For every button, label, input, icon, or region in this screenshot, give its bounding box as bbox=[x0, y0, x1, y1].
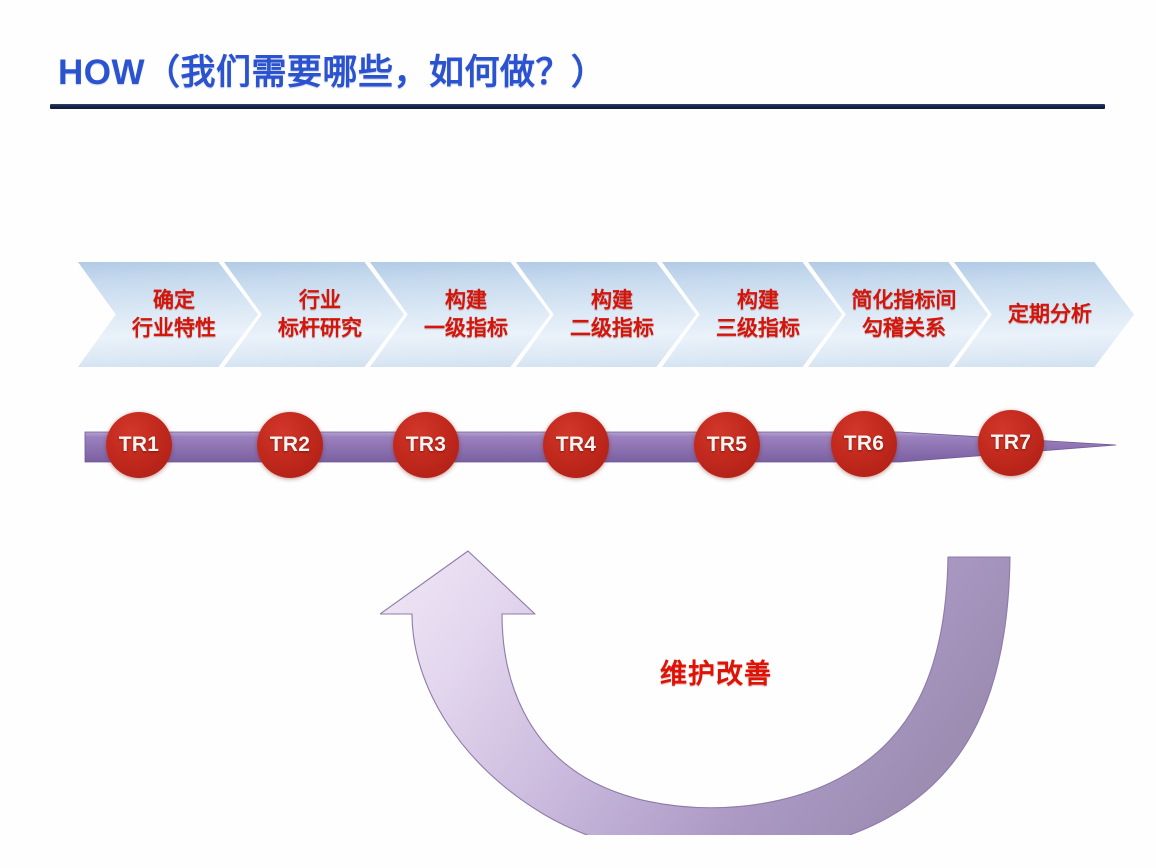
timeline-node-label: TR1 bbox=[119, 433, 160, 457]
feedback-label: 维护改善 bbox=[660, 652, 772, 691]
process-step-1[interactable]: 确定行业特性 bbox=[78, 262, 258, 367]
page-title: HOW（我们需要哪些，如何做？） bbox=[58, 44, 607, 95]
milestone-timeline: TR1TR2TR3TR4TR5TR6TR7 bbox=[0, 400, 1156, 500]
process-chevron-band: 确定行业特性行业标杆研究构建一级指标构建二级指标构建三级指标简化指标间勾稽关系定… bbox=[0, 262, 1156, 372]
timeline-node-label: TR6 bbox=[844, 432, 885, 456]
process-step-label: 构建三级指标 bbox=[716, 287, 800, 342]
timeline-node-label: TR4 bbox=[556, 433, 597, 457]
timeline-node-5[interactable]: TR5 bbox=[694, 412, 760, 478]
timeline-node-6[interactable]: TR6 bbox=[831, 411, 897, 477]
slide-canvas: HOW（我们需要哪些，如何做？） 确定行业特性行业标杆研究构建一级指标构建二级指… bbox=[0, 0, 1156, 868]
process-step-line1: 构建 bbox=[424, 287, 508, 315]
process-step-line1: 简化指标间 bbox=[852, 287, 957, 315]
process-step-line1: 确定 bbox=[132, 287, 216, 315]
process-step-line1: 构建 bbox=[716, 287, 800, 315]
process-step-line2: 勾稽关系 bbox=[852, 315, 957, 343]
timeline-node-label: TR5 bbox=[707, 433, 748, 457]
process-step-line2: 二级指标 bbox=[570, 315, 654, 343]
process-step-label: 构建一级指标 bbox=[424, 287, 508, 342]
title-divider bbox=[50, 104, 1105, 109]
timeline-node-label: TR2 bbox=[270, 433, 311, 457]
timeline-node-label: TR7 bbox=[991, 431, 1032, 455]
timeline-node-1[interactable]: TR1 bbox=[106, 412, 172, 478]
process-step-label: 简化指标间勾稽关系 bbox=[852, 287, 957, 342]
process-step-line2: 一级指标 bbox=[424, 315, 508, 343]
process-step-label: 定期分析 bbox=[1008, 301, 1092, 329]
process-step-line1: 构建 bbox=[570, 287, 654, 315]
timeline-node-label: TR3 bbox=[406, 433, 447, 457]
timeline-node-2[interactable]: TR2 bbox=[257, 412, 323, 478]
process-step-line2: 行业特性 bbox=[132, 315, 216, 343]
timeline-node-4[interactable]: TR4 bbox=[543, 412, 609, 478]
process-step-label: 确定行业特性 bbox=[132, 287, 216, 342]
process-step-line2: 标杆研究 bbox=[278, 315, 362, 343]
process-step-line1: 定期分析 bbox=[1008, 301, 1092, 329]
timeline-node-7[interactable]: TR7 bbox=[978, 410, 1044, 476]
timeline-node-3[interactable]: TR3 bbox=[393, 412, 459, 478]
process-step-line2: 三级指标 bbox=[716, 315, 800, 343]
process-step-line1: 行业 bbox=[278, 287, 362, 315]
process-step-label: 构建二级指标 bbox=[570, 287, 654, 342]
process-step-label: 行业标杆研究 bbox=[278, 287, 362, 342]
